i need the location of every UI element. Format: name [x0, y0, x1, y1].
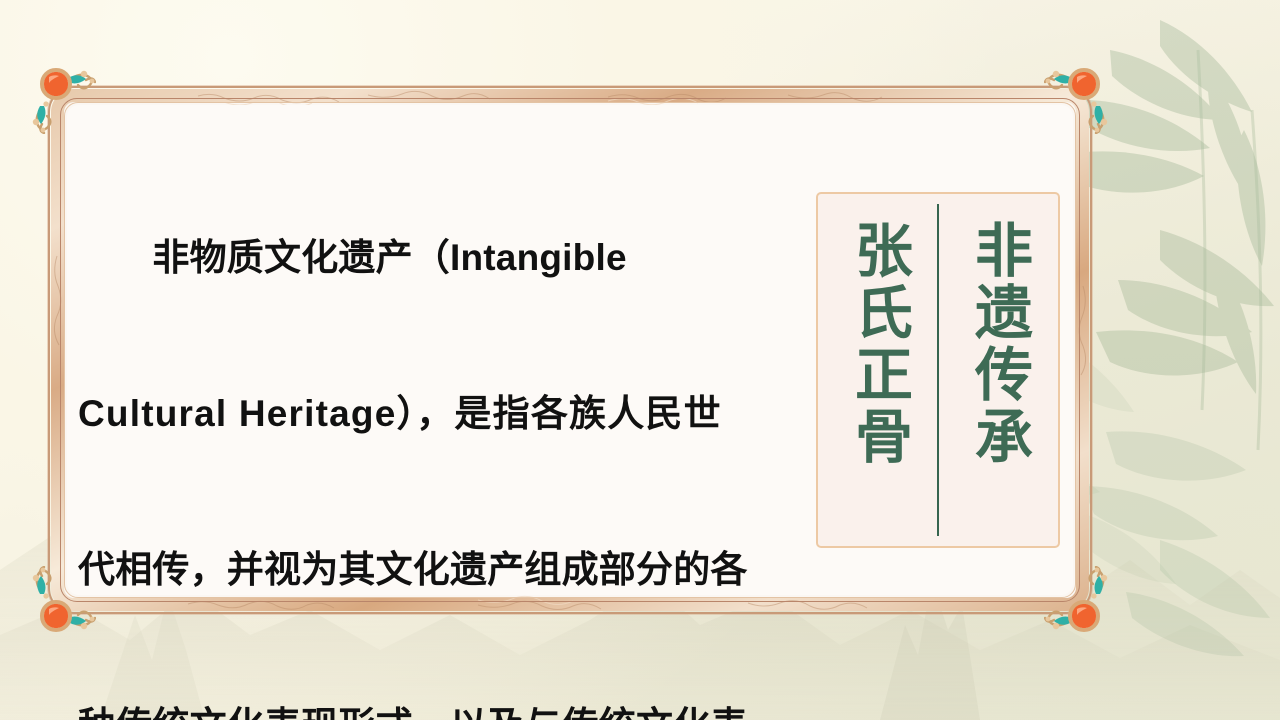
vertical-column-left: 张氏正骨 — [818, 194, 938, 468]
vertical-text-zhangshi-zhenggu: 张氏正骨 — [845, 220, 911, 468]
body-line-3: 代相传，并视为其文化遗产组成部分的各 — [78, 544, 818, 596]
slide-stage: 非物质文化遗产（Intangible Cultural Heritage），是指… — [0, 0, 1280, 720]
vertical-box-divider — [937, 204, 939, 536]
vertical-callout-box: 非遗传承 张氏正骨 — [816, 192, 1060, 548]
body-line-4: 种传统文化表现形式，以及与传统文化表 — [78, 700, 818, 720]
vertical-column-right: 非遗传承 — [938, 194, 1058, 468]
body-line-1: 非物质文化遗产（Intangible — [78, 232, 818, 284]
body-text-block: 非物质文化遗产（Intangible Cultural Heritage），是指… — [78, 128, 818, 720]
corner-jewel-bottom-right-icon — [1044, 566, 1118, 640]
vertical-text-feiyi-chuancheng: 非遗传承 — [965, 220, 1031, 468]
corner-jewel-top-left-icon — [22, 60, 96, 134]
corner-jewel-top-right-icon — [1044, 60, 1118, 134]
body-line-2: Cultural Heritage），是指各族人民世 — [78, 388, 818, 440]
